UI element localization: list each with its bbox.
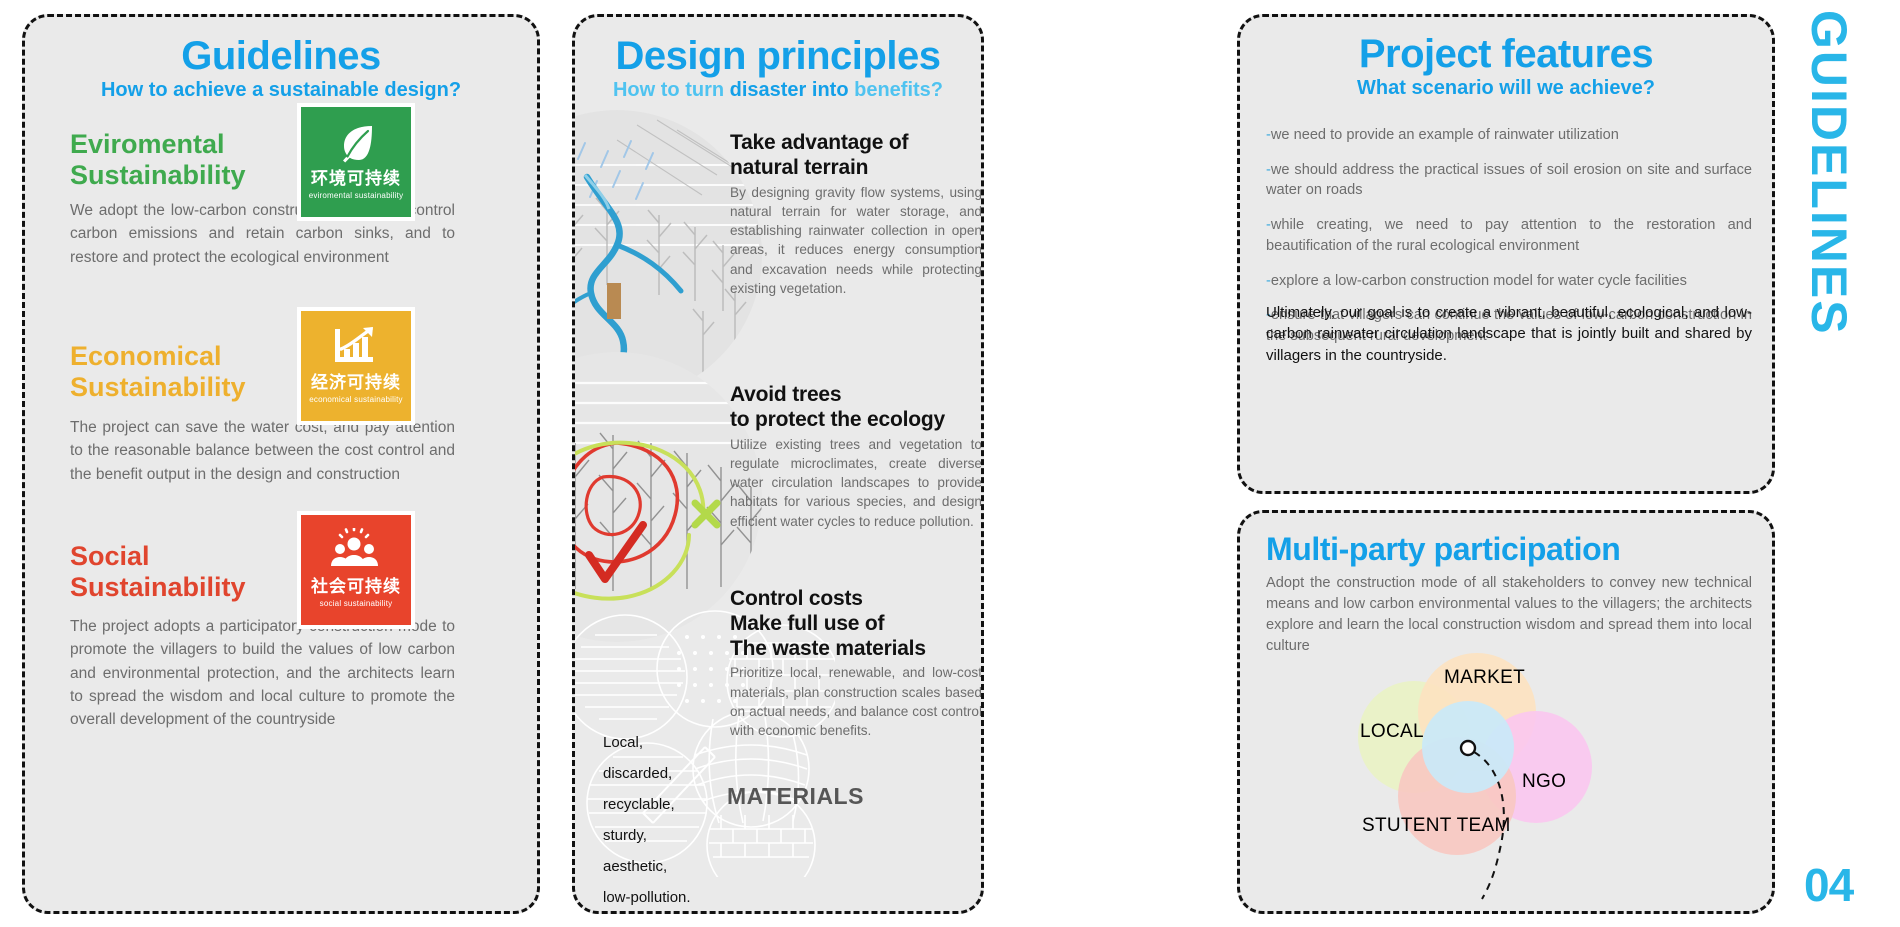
guideline-body-social: The project adopts a participatory const… — [70, 615, 455, 731]
design-header: Design principles How to turn disaster i… — [575, 35, 981, 101]
venn-label-local: LOCAL — [1360, 721, 1424, 743]
design-head-trees: Avoid trees to protect the ecology — [730, 383, 981, 433]
design-text-terrain: Take advantage of natural terrain By des… — [730, 131, 981, 298]
features-bullet-text: while creating, we need to pay attention… — [1266, 217, 1752, 254]
design-subtitle-part1: How to turn — [613, 79, 730, 101]
panel-multiparty-content: Multi-party participation Adopt the cons… — [1240, 513, 1772, 911]
features-subtitle: What scenario will we achieve? — [1240, 77, 1772, 99]
design-text-trees: Avoid trees to protect the ecology Utili… — [730, 383, 981, 531]
design-body-materials: Prioritize local, renewable, and low-cos… — [730, 663, 981, 740]
design-text-materials: Control costs Make full use of The waste… — [730, 587, 981, 740]
features-conclusion: Ultimately, our goal is to create a vibr… — [1266, 302, 1752, 366]
design-body-terrain: By designing gravity flow systems, using… — [730, 183, 981, 299]
badge-label-cn-environmental: 环境可持续 — [311, 171, 401, 188]
design-head-materials: Control costs Make full use of The waste… — [730, 587, 981, 661]
people-group-icon — [329, 521, 383, 579]
features-bullet-text: we need to provide an example of rainwat… — [1271, 127, 1619, 143]
design-subtitle: How to turn disaster into benefits? — [575, 79, 981, 101]
features-bullet-item: -while creating, we need to pay attentio… — [1266, 215, 1752, 256]
materials-item: Local, — [603, 727, 743, 758]
design-title: Design principles — [575, 35, 981, 77]
features-bullet-item: -explore a low-carbon construction model… — [1266, 271, 1752, 292]
badge-social-sustainability: 社会可持续 social sustainability — [297, 511, 415, 629]
features-bullet-text: we should address the practical issues o… — [1266, 162, 1752, 199]
multiparty-title: Multi-party participation — [1266, 531, 1620, 568]
features-title: Project features — [1240, 33, 1772, 75]
multiparty-body: Adopt the construction mode of all stake… — [1266, 573, 1752, 658]
features-header: Project features What scenario will we a… — [1240, 33, 1772, 99]
materials-item: aesthetic, — [603, 851, 743, 882]
guideline-body-economical: The project can save the water cost, and… — [70, 416, 455, 486]
design-head-terrain: Take advantage of natural terrain — [730, 131, 981, 181]
design-body-trees: Utilize existing trees and vegetation to… — [730, 435, 981, 531]
badge-label-en-economical: economical sustainability — [309, 395, 403, 404]
badge-label-en-social: social sustainability — [320, 599, 393, 608]
panel-guidelines-content: Guidelines How to achieve a sustainable … — [25, 17, 537, 911]
panel-multi-party-participation: Multi-party participation Adopt the cons… — [1237, 510, 1775, 914]
growth-chart-icon — [331, 317, 381, 375]
panel-design-content: Design principles How to turn disaster i… — [575, 17, 981, 911]
badge-label-en-environmental: eviromental sustainability — [309, 191, 404, 200]
venn-label-ngo: NGO — [1522, 771, 1566, 793]
guidelines-header: Guidelines How to achieve a sustainable … — [25, 35, 537, 101]
design-row-materials: Local, discarded, recyclable, sturdy, ae… — [575, 577, 981, 907]
panel-guidelines: Guidelines How to achieve a sustainable … — [22, 14, 540, 914]
badge-economical-sustainability: 经济可持续 economical sustainability — [297, 307, 415, 425]
badge-label-cn-economical: 经济可持续 — [311, 375, 401, 392]
materials-item: recyclable, — [603, 789, 743, 820]
badge-label-cn-social: 社会可持续 — [311, 579, 401, 596]
badge-environmental-sustainability: 环境可持续 eviromental sustainability — [297, 103, 415, 221]
panel-features-content: Project features What scenario will we a… — [1240, 17, 1772, 491]
presentation-board: Guidelines How to achieve a sustainable … — [0, 0, 1900, 927]
panel-project-features: Project features What scenario will we a… — [1237, 14, 1775, 494]
guideline-title-environmental: Eviromental Sustainability — [70, 129, 246, 192]
features-bullet-item: -we need to provide an example of rainwa… — [1266, 125, 1752, 146]
guideline-title-economical: Economical Sustainability — [70, 341, 246, 404]
panel-design-principles: Design principles How to turn disaster i… — [572, 14, 984, 914]
design-subtitle-part2: disaster into — [730, 79, 854, 101]
stakeholder-venn-diagram: MARKET LOCAL NGO STUTENT TEAM — [1340, 653, 1720, 903]
venn-label-student-team: STUTENT TEAM — [1362, 815, 1511, 837]
venn-label-market: MARKET — [1444, 667, 1525, 689]
design-subtitle-part3: benefits? — [854, 79, 943, 101]
section-rail-label: GUIDELINES — [1800, 10, 1858, 336]
leaf-icon — [332, 113, 380, 171]
materials-item: discarded, — [603, 758, 743, 789]
materials-item: sturdy, — [603, 820, 743, 851]
page-title: Guidelines — [25, 35, 537, 77]
features-bullet-item: -we should address the practical issues … — [1266, 160, 1752, 201]
guidelines-subtitle: How to achieve a sustainable design? — [25, 79, 537, 101]
guideline-title-social: Social Sustainability — [70, 541, 246, 604]
features-bullet-text: explore a low-carbon construction model … — [1271, 273, 1687, 289]
materials-item: low-pollution. — [603, 882, 743, 911]
materials-heading: MATERIALS — [727, 783, 864, 810]
materials-list: Local, discarded, recyclable, sturdy, ae… — [603, 727, 743, 911]
page-number: 04 — [1804, 858, 1853, 912]
